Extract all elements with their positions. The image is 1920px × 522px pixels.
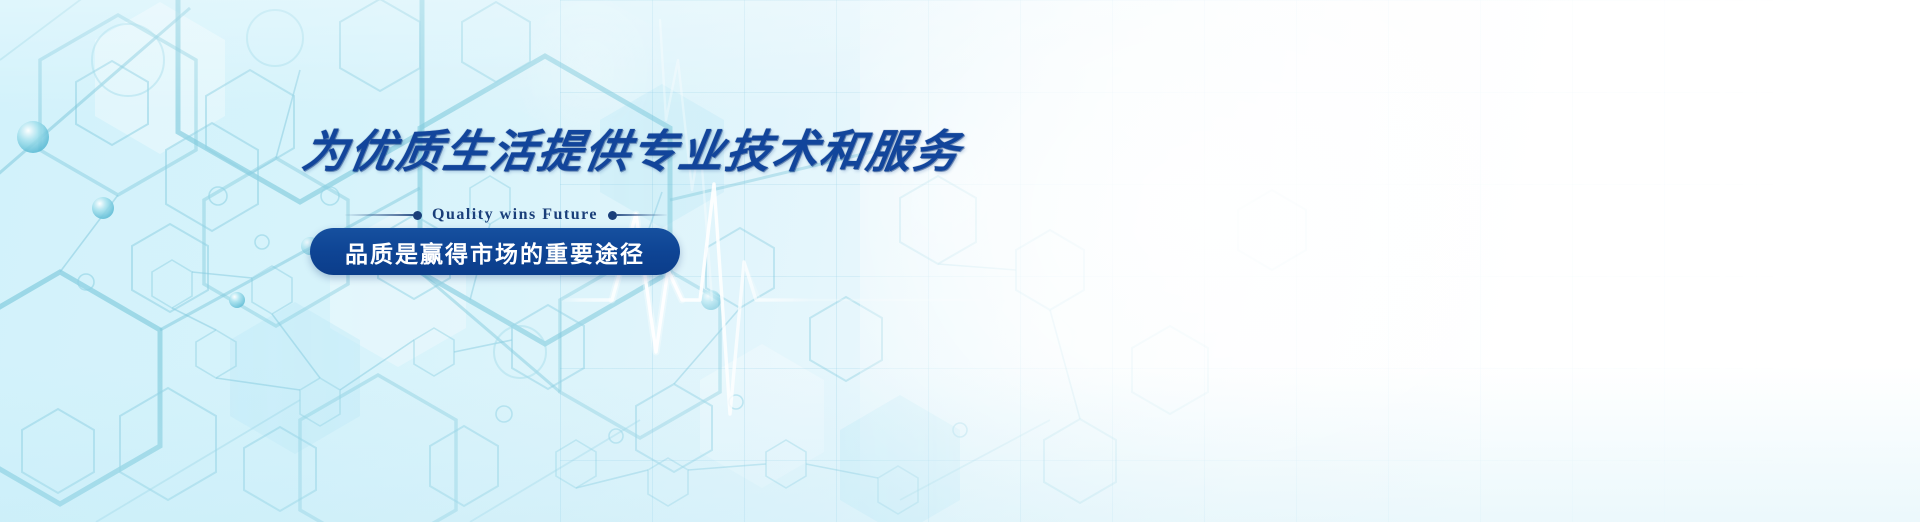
- divider-dot-right: [608, 211, 617, 220]
- subtitle-row: Quality wins Future: [345, 203, 620, 227]
- cta-button[interactable]: 品质是赢得市场的重要途径: [310, 228, 680, 275]
- divider-dot-left: [413, 211, 422, 220]
- subtitle-english: Quality wins Future: [422, 206, 608, 224]
- divider-line-right: [617, 214, 667, 216]
- medical-hero-banner: 为优质生活提供专业技术和服务 Quality wins Future 品质是赢得…: [0, 0, 1920, 522]
- cta-button-label: 品质是赢得市场的重要途径: [345, 235, 645, 269]
- page-title: 为优质生活提供专业技术和服务: [299, 129, 964, 174]
- divider-line-left: [345, 214, 413, 216]
- banner-content: 为优质生活提供专业技术和服务 Quality wins Future 品质是赢得…: [0, 0, 900, 522]
